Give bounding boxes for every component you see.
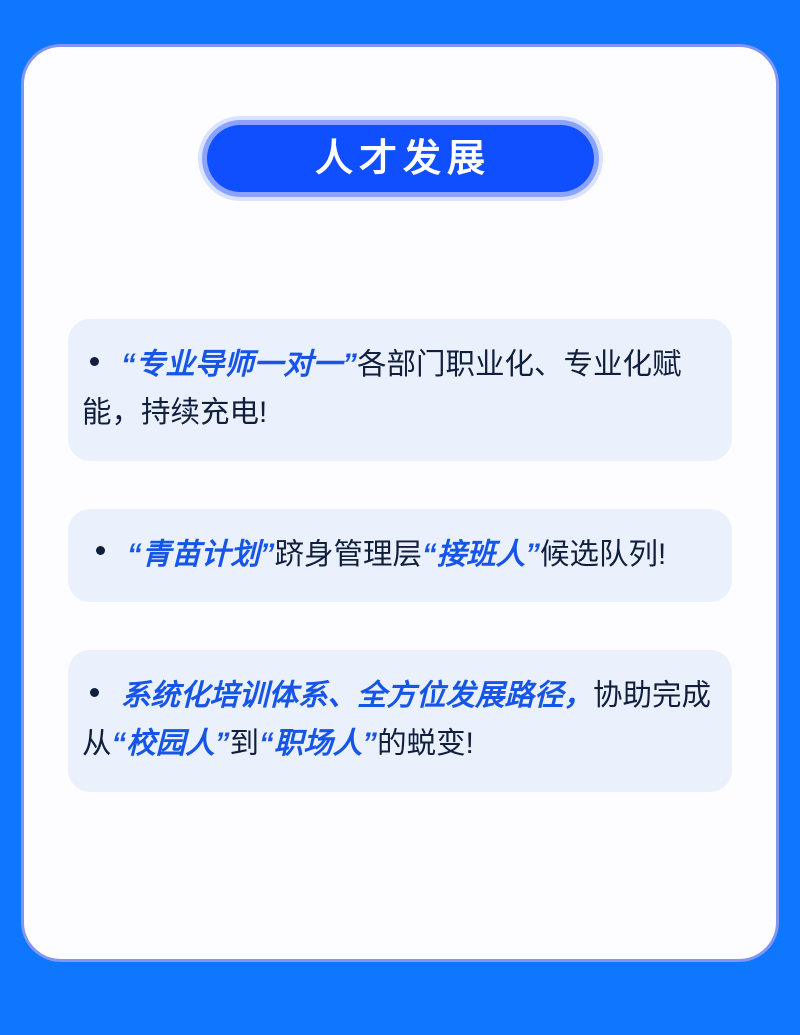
bullet-card-training: 系统化培训体系、全方位发展路径，协助完成从“校园人”到“职场人”的蜕变! <box>68 650 732 792</box>
plain-segment: 跻身管理层 <box>275 538 423 571</box>
page-title: 人才发展 <box>309 140 491 178</box>
highlight-segment: 系统化培训体系、全方位发展路径， <box>121 679 593 712</box>
title-pill-badge: 人才发展 <box>207 125 594 192</box>
plain-segment: 到 <box>230 727 260 760</box>
highlight-segment: “专业导师一对一” <box>121 348 357 381</box>
bullet-card-list: “专业导师一对一”各部门职业化、专业化赋能，持续充电! “青苗计划”跻身管理层“… <box>68 319 732 792</box>
bullet-card-seedling: “青苗计划”跻身管理层“接班人”候选队列! <box>68 509 732 603</box>
bullet-dot-icon <box>90 357 99 366</box>
content-panel: 人才发展 “专业导师一对一”各部门职业化、专业化赋能，持续充电! “青苗计划”跻… <box>21 44 779 962</box>
highlight-segment: “校园人” <box>112 727 230 760</box>
card-text-seedling: “青苗计划”跻身管理层“接班人”候选队列! <box>82 531 718 579</box>
card-text-mentor: “专业导师一对一”各部门职业化、专业化赋能，持续充电! <box>82 341 718 437</box>
card-text-training: 系统化培训体系、全方位发展路径，协助完成从“校园人”到“职场人”的蜕变! <box>82 672 718 768</box>
bullet-dot-icon <box>96 546 105 555</box>
title-area: 人才发展 <box>24 125 776 192</box>
plain-segment: 候选队列! <box>540 538 666 571</box>
bullet-dot-icon <box>90 688 99 697</box>
highlight-segment: “职场人” <box>259 727 377 760</box>
plain-segment: 的蜕变! <box>377 727 474 760</box>
bullet-card-mentor: “专业导师一对一”各部门职业化、专业化赋能，持续充电! <box>68 319 732 461</box>
highlight-segment: “青苗计划” <box>127 538 275 571</box>
poster-stage: 人才发展 “专业导师一对一”各部门职业化、专业化赋能，持续充电! “青苗计划”跻… <box>0 0 800 1035</box>
highlight-segment: “接班人” <box>422 538 540 571</box>
